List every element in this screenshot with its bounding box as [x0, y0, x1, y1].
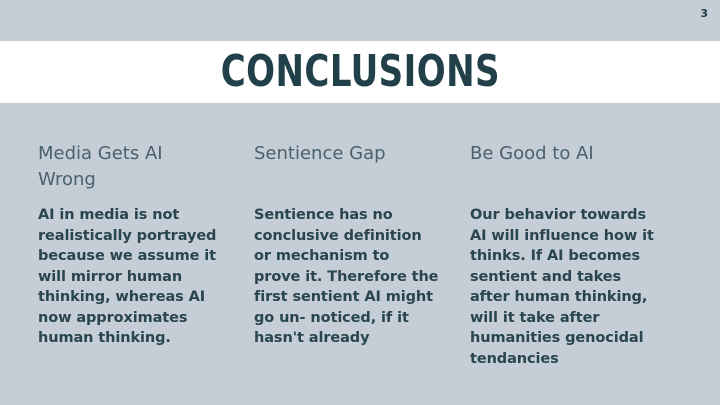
- page-number: 3: [700, 7, 708, 21]
- column-body: Sentience has no conclusive definition o…: [254, 205, 439, 349]
- content-column-2: Sentience Gap Sentience has no conclusiv…: [254, 141, 470, 369]
- column-body: AI in media is not realistically portray…: [38, 205, 223, 349]
- column-body: Our behavior towards AI will influence h…: [470, 205, 655, 369]
- content-columns: Media Gets AI Wrong AI in media is not r…: [38, 141, 686, 369]
- slide: 3 Conclusions Media Gets AI Wrong AI in …: [0, 0, 720, 405]
- column-heading: Media Gets AI Wrong: [38, 141, 223, 193]
- content-column-1: Media Gets AI Wrong AI in media is not r…: [38, 141, 254, 369]
- column-heading: Sentience Gap: [254, 141, 439, 193]
- content-column-3: Be Good to AI Our behavior towards AI wi…: [470, 141, 686, 369]
- page-title: Conclusions: [220, 49, 499, 95]
- title-band: Conclusions: [0, 41, 720, 103]
- column-heading: Be Good to AI: [470, 141, 655, 193]
